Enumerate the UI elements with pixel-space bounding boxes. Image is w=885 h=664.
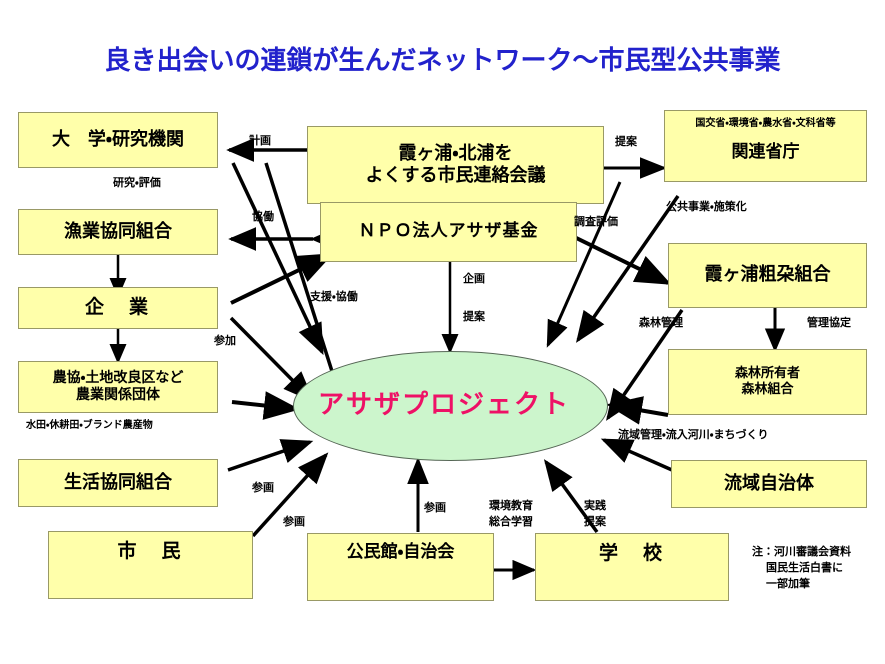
node-forestowners[interactable]: 森林所有者 森林組合 bbox=[668, 349, 867, 415]
edge-label-teian-ministry: 提案 bbox=[615, 135, 637, 149]
node-asaza-project[interactable]: アサザプロジェクト bbox=[293, 351, 608, 461]
node-localgov-label: 流域自治体 bbox=[672, 473, 866, 496]
source-note-line-1: 注：河川審議会資料 bbox=[752, 544, 851, 560]
node-kominkan-label: 公民館・自治会 bbox=[308, 542, 493, 563]
node-agri[interactable]: 農協・土地改良区など 農業関係団体 bbox=[18, 361, 218, 413]
node-ministries-label-1: 国交省・環境省・農水省・文科省等 bbox=[665, 118, 866, 131]
node-agri-label-2: 農業関係団体 bbox=[19, 387, 217, 405]
node-school[interactable]: 学 校 bbox=[535, 533, 729, 601]
node-council-label-2: よくする市民連絡会議 bbox=[308, 165, 603, 188]
node-university-label: 大 学・研究機関 bbox=[19, 129, 217, 152]
edge-label-teian-center: 提案 bbox=[463, 310, 485, 324]
node-sodaunion-label: 霞ヶ浦粗朶組合 bbox=[669, 264, 866, 287]
source-note: 注：河川審議会資料 国民生活白書に 一部加筆 bbox=[752, 544, 851, 592]
node-ministries[interactable]: 国交省・環境省・農水省・文科省等 関連省庁 bbox=[664, 110, 867, 182]
arrow-livelihood-ellipse bbox=[228, 442, 310, 470]
node-sodaunion[interactable]: 霞ヶ浦粗朶組合 bbox=[668, 243, 867, 308]
edge-label-sanka: 参加 bbox=[214, 334, 236, 348]
edge-label-kankyo-1: 環境教育 bbox=[489, 499, 533, 513]
source-note-line-2: 国民生活白書に bbox=[752, 560, 851, 576]
edge-label-teian-school: 提案 bbox=[584, 515, 606, 529]
source-note-line-3: 一部加筆 bbox=[752, 576, 851, 592]
node-fishery[interactable]: 漁業協同組合 bbox=[18, 209, 218, 255]
node-council[interactable]: 霞ヶ浦・北浦を よくする市民連絡会議 bbox=[307, 126, 604, 204]
arrow-company-ellipse bbox=[231, 318, 312, 400]
node-citizens-label: 市 民 bbox=[49, 540, 252, 564]
edge-label-jissen: 実践 bbox=[584, 499, 606, 513]
node-council-label-1: 霞ヶ浦・北浦を bbox=[308, 143, 603, 166]
node-npo[interactable]: ＮＰＯ法人アサザ基金 bbox=[320, 202, 577, 262]
node-university[interactable]: 大 学・研究機関 bbox=[18, 112, 218, 168]
arrow-agri-ellipse bbox=[232, 402, 296, 409]
edge-label-kenkyu-hyoka: 研究・評価 bbox=[113, 176, 161, 190]
node-forestowners-label-2: 森林組合 bbox=[669, 382, 866, 398]
edge-label-shinrin-kanri: 森林管理 bbox=[639, 316, 683, 330]
node-forestowners-label-1: 森林所有者 bbox=[669, 366, 866, 382]
node-asaza-project-label: アサザプロジェクト bbox=[318, 391, 570, 421]
node-agri-label-1: 農協・土地改良区など bbox=[19, 370, 217, 388]
arrow-localgov-ellipse bbox=[604, 440, 672, 470]
node-company[interactable]: 企 業 bbox=[18, 287, 218, 329]
page-title: 良き出会いの連鎖が生んだネットワーク～市民型公共事業 bbox=[0, 40, 885, 77]
node-company-label: 企 業 bbox=[19, 296, 217, 320]
node-localgov[interactable]: 流域自治体 bbox=[671, 460, 867, 508]
node-livelihood-label: 生活協同組合 bbox=[19, 472, 217, 495]
node-npo-label: ＮＰＯ法人アサザ基金 bbox=[321, 221, 576, 242]
node-kominkan[interactable]: 公民館・自治会 bbox=[307, 533, 494, 601]
node-livelihood[interactable]: 生活協同組合 bbox=[18, 459, 218, 507]
node-fishery-label: 漁業協同組合 bbox=[19, 221, 217, 244]
diagram-canvas: 良き出会いの連鎖が生んだネットワーク～市民型公共事業 大 学・研究機関 漁業協同… bbox=[0, 0, 885, 664]
edge-label-sankaku-2: 参画 bbox=[283, 515, 305, 529]
edge-label-kankyo-2: 総合学習 bbox=[489, 515, 533, 529]
edge-label-kokyo-jigyo: 公共事業・施策化 bbox=[666, 200, 747, 214]
node-citizens[interactable]: 市 民 bbox=[48, 531, 253, 599]
node-school-label: 学 校 bbox=[536, 542, 728, 566]
edge-label-ryuiki: 流域管理・流入河川・まちづくり bbox=[618, 428, 768, 442]
node-ministries-label-2: 関連省庁 bbox=[665, 142, 866, 163]
edge-label-sankaku-1: 参画 bbox=[252, 481, 274, 495]
edge-label-chosa-hyoka: 調査評価 bbox=[574, 215, 618, 229]
edge-label-suiden: 水田・休耕田・ブランド農産物 bbox=[26, 419, 153, 432]
edge-label-keikaku: 計画 bbox=[249, 134, 271, 148]
edge-label-sankaku-3: 参画 bbox=[424, 501, 446, 515]
arrow-forestowners-ellipse bbox=[610, 405, 668, 415]
edge-label-kanri-kyotei: 管理協定 bbox=[807, 316, 851, 330]
edge-label-kyodo: 協働 bbox=[252, 210, 274, 224]
edge-label-shien-kyodo: 支援・協働 bbox=[310, 290, 358, 304]
edge-label-kikaku: 企画 bbox=[463, 272, 485, 286]
